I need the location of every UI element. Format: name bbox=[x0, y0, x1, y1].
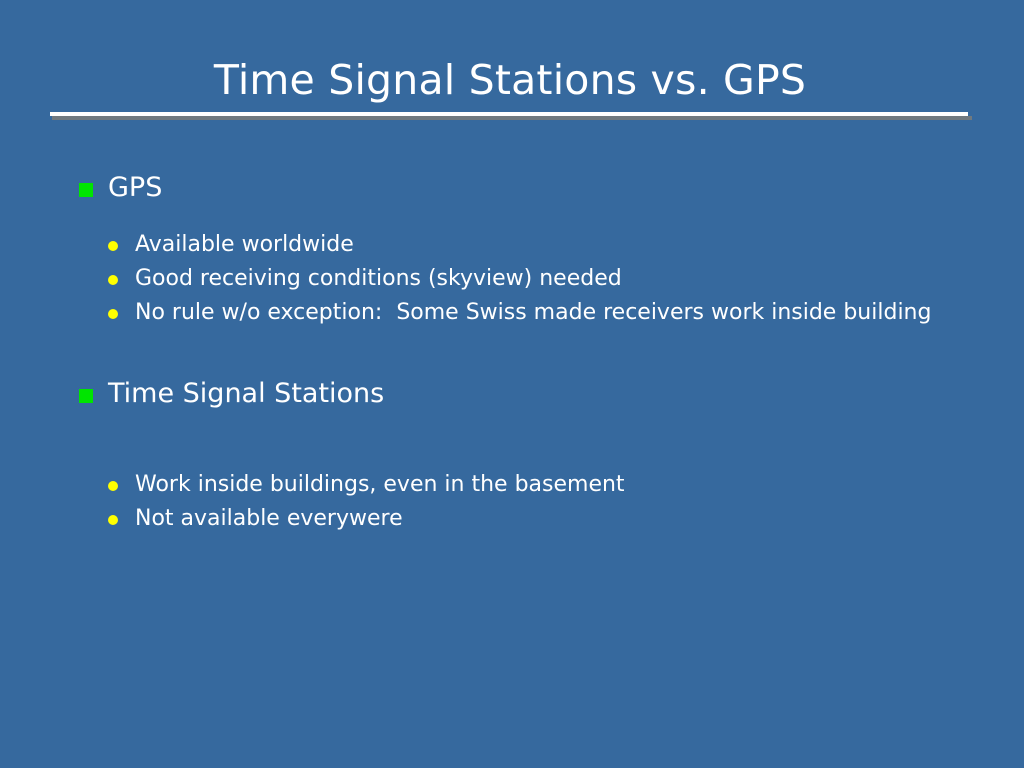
bullet-level1-gps: GPS bbox=[72, 168, 972, 208]
square-bullet-icon bbox=[79, 183, 93, 197]
empty-line-spacer bbox=[72, 420, 972, 454]
bullet-level2-item: Work inside buildings, even in the basem… bbox=[72, 468, 972, 502]
presentation-slide: Time Signal Stations vs. GPS GPS Availab… bbox=[0, 0, 1024, 768]
spacer bbox=[72, 454, 972, 468]
bullet-level1-label: GPS bbox=[108, 172, 162, 203]
bullet-level2-label: Not available everywere bbox=[135, 502, 972, 536]
dot-bullet-icon bbox=[108, 241, 118, 251]
title-divider-shadow bbox=[52, 116, 972, 120]
bullet-level2-item: Good receiving conditions (skyview) need… bbox=[72, 262, 972, 296]
slide-body: GPS Available worldwide Good receiving c… bbox=[72, 168, 972, 536]
spacer bbox=[72, 214, 972, 228]
dot-bullet-icon bbox=[108, 275, 118, 285]
bullet-level2-label: Good receiving conditions (skyview) need… bbox=[135, 262, 972, 296]
dot-bullet-icon bbox=[108, 481, 118, 491]
bullet-level1-label: Time Signal Stations bbox=[108, 378, 384, 409]
page-title: Time Signal Stations vs. GPS bbox=[50, 52, 970, 108]
dot-bullet-icon bbox=[108, 515, 118, 525]
section-spacer bbox=[72, 330, 972, 374]
square-bullet-icon bbox=[79, 389, 93, 403]
bullet-level2-label: Work inside buildings, even in the basem… bbox=[135, 468, 972, 502]
bullet-level2-label: No rule w/o exception: Some Swiss made r… bbox=[135, 296, 972, 330]
bullet-level2-item: Not available everywere bbox=[72, 502, 972, 536]
bullet-level1-time-signal-stations: Time Signal Stations bbox=[72, 374, 972, 414]
title-divider bbox=[50, 112, 970, 119]
title-divider-line bbox=[50, 112, 968, 116]
bullet-level2-item: Available worldwide bbox=[72, 228, 972, 262]
dot-bullet-icon bbox=[108, 309, 118, 319]
bullet-level2-label: Available worldwide bbox=[135, 228, 972, 262]
title-block: Time Signal Stations vs. GPS bbox=[50, 52, 970, 114]
bullet-level2-item: No rule w/o exception: Some Swiss made r… bbox=[72, 296, 972, 330]
